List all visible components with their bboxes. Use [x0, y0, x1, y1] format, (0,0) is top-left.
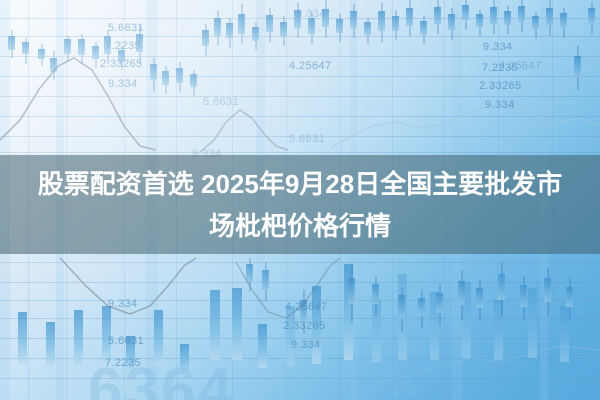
title-line-1: 股票配资首选 2025年9月28日全国主要批发市: [38, 164, 562, 204]
chart-line-path: [236, 258, 340, 318]
title-line-2: 场枇杷价格行情: [209, 206, 391, 246]
title-overlay-band: 股票配资首选 2025年9月28日全国主要批发市 场枇杷价格行情: [0, 155, 600, 254]
banner-image: 6364 5.66317.22352.332659.3344.256475.66…: [0, 0, 600, 400]
chart-line-path: [380, 346, 600, 382]
chart-line-path: [60, 258, 196, 314]
ghost-number-label: 6364: [88, 355, 234, 400]
